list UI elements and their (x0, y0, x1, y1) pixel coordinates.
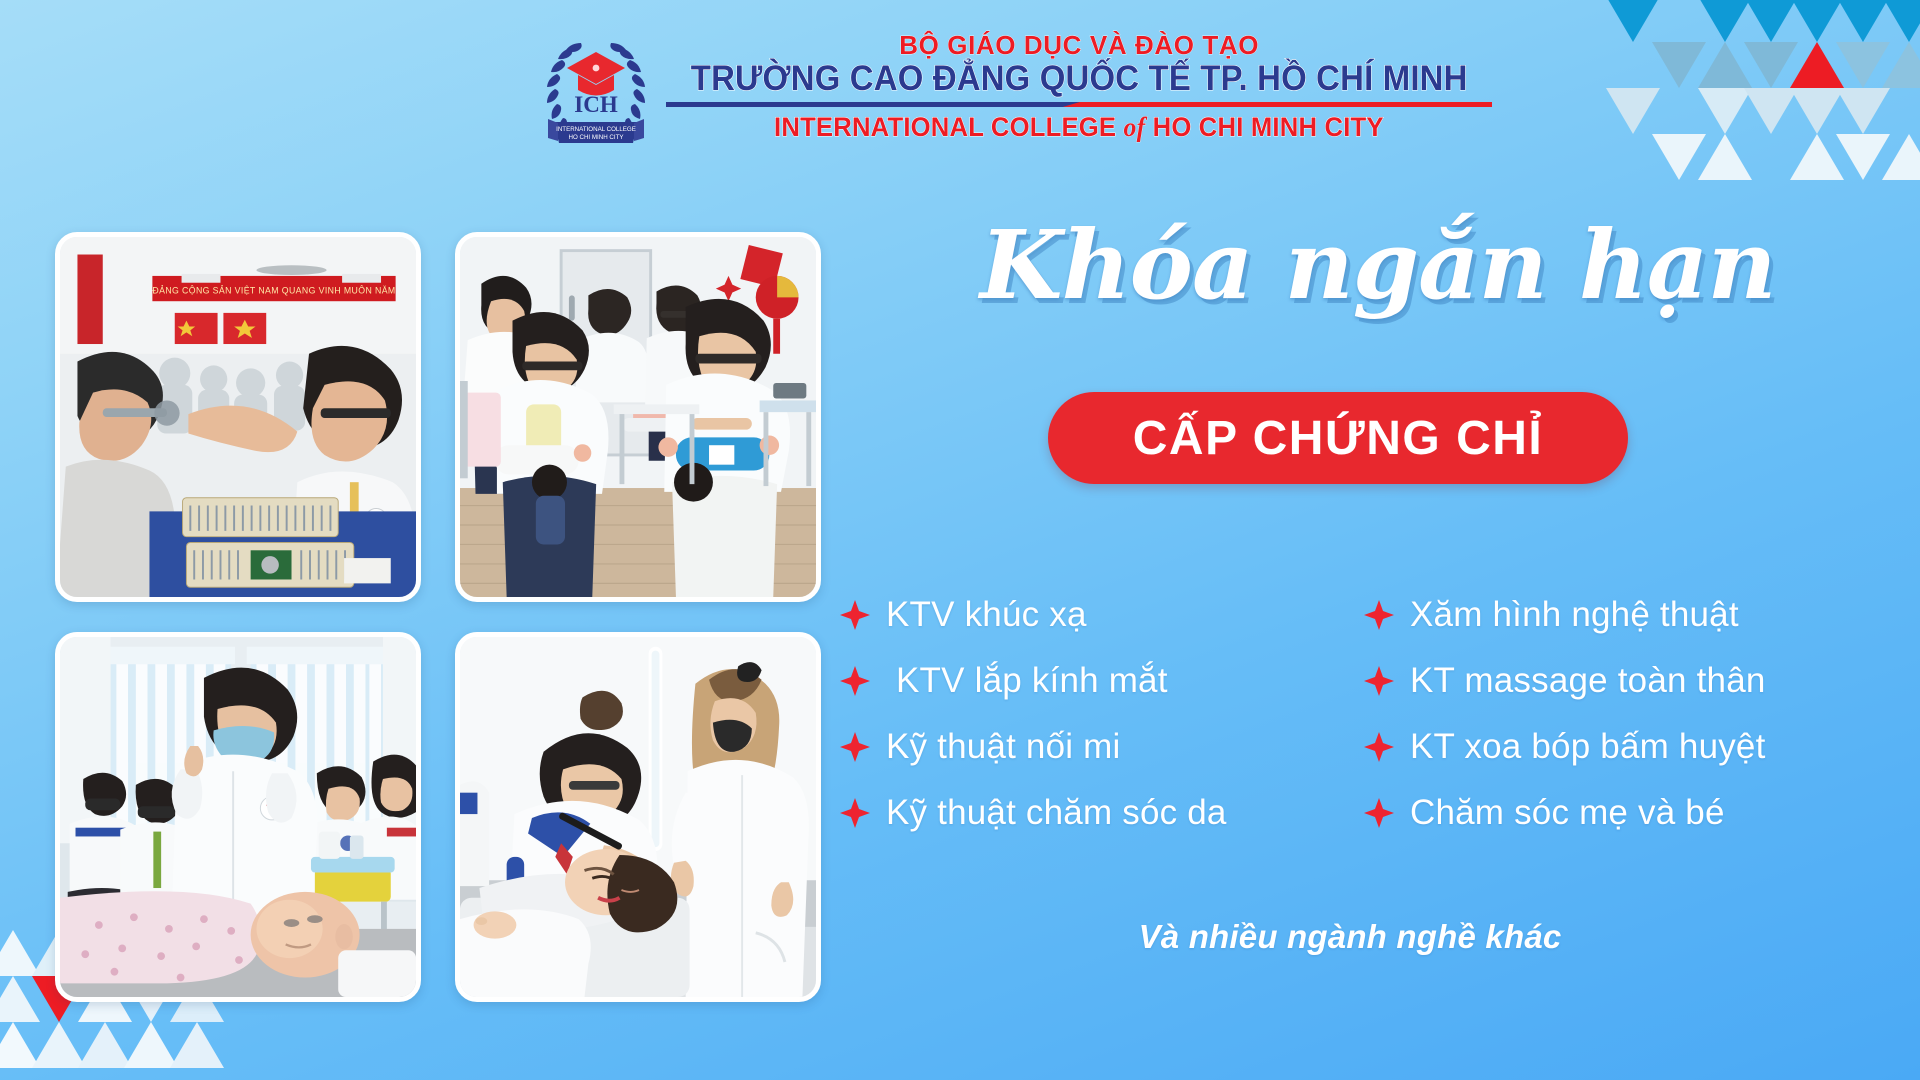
photo-nursing-practical (55, 632, 421, 1002)
decor-triangle (32, 1022, 86, 1068)
decor-triangle (1790, 88, 1844, 134)
photo-optometry-refraction-image: ĐẢNG CỘNG SẢN VIỆT NAM QUANG VINH MUÔN N… (60, 237, 416, 597)
svg-text:HO CHI MINH CITY: HO CHI MINH CITY (569, 134, 624, 141)
sparkle-icon (840, 600, 870, 630)
decor-triangle (1606, 0, 1660, 42)
brand-header: ICH INTERNATIONAL COLLEGE HO CHI MINH CI… (540, 26, 1492, 148)
ich-logo-mark: ICH INTERNATIONAL COLLEGE HO CHI MINH CI… (540, 26, 652, 148)
header-divider-left (666, 102, 1096, 107)
list-item[interactable]: Xăm hình nghệ thuật (1364, 595, 1860, 635)
svg-text:ĐẢNG CỘNG SẢN VIỆT NAM QUANG V: ĐẢNG CỘNG SẢN VIỆT NAM QUANG VINH MUÔN N… (152, 284, 395, 295)
photo-infant-care-training (455, 232, 821, 602)
course-label: KT massage toàn thân (1410, 661, 1766, 701)
list-item[interactable]: KT xoa bóp bấm huyệt (1364, 727, 1860, 767)
svg-text:INTERNATIONAL COLLEGE: INTERNATIONAL COLLEGE (556, 126, 636, 133)
page-title: Khóa ngắn hạn (980, 218, 1720, 313)
photo-beauty-lash-training (455, 632, 821, 1002)
sparkle-icon (840, 666, 870, 696)
decor-triangle (1790, 134, 1844, 180)
accent-triangle (1790, 42, 1844, 88)
course-label: Xăm hình nghệ thuật (1410, 595, 1739, 635)
svg-text:ICH: ICH (574, 92, 618, 117)
ministry-line: BỘ GIÁO DỤC VÀ ĐÀO TẠO (899, 31, 1259, 60)
photo-nursing-practical-image (60, 637, 416, 997)
sparkle-icon (840, 732, 870, 762)
list-item[interactable]: Chăm sóc mẹ và bé (1364, 793, 1860, 833)
certificate-badge-label: CẤP CHỨNG CHỈ (1133, 411, 1543, 466)
course-list-left-column: KTV khúc xạ KTV lắp kính mắt Kỹ thuật nố… (840, 595, 1336, 833)
decor-triangle (170, 1022, 224, 1068)
list-item[interactable]: Kỹ thuật chăm sóc da (840, 793, 1336, 833)
course-list-right-column: Xăm hình nghệ thuật KT massage toàn thân… (1364, 595, 1860, 833)
list-item[interactable]: Kỹ thuật nối mi (840, 727, 1336, 767)
school-name-en: INTERNATIONAL COLLEGE of HO CHI MINH CIT… (774, 113, 1384, 143)
list-item[interactable]: KTV khúc xạ (840, 595, 1336, 635)
course-list: KTV khúc xạ KTV lắp kính mắt Kỹ thuật nố… (840, 595, 1860, 833)
decor-triangle (78, 1022, 132, 1068)
decor-triangle (1882, 134, 1920, 180)
list-item[interactable]: KTV lắp kính mắt (840, 661, 1336, 701)
photo-beauty-lash-training-image (460, 637, 816, 997)
list-item[interactable]: KT massage toàn thân (1364, 661, 1860, 701)
decor-triangle (1882, 42, 1920, 88)
certificate-badge[interactable]: CẤP CHỨNG CHỈ (1048, 392, 1628, 484)
decor-triangle (1836, 134, 1890, 180)
course-label: Kỹ thuật nối mi (886, 727, 1121, 767)
decor-triangle (124, 1022, 178, 1068)
school-name-vi: TRƯỜNG CAO ĐẲNG QUỐC TẾ TP. HỒ CHÍ MINH (691, 60, 1468, 99)
decor-triangle (1652, 42, 1706, 88)
photo-infant-care-training-image (460, 237, 816, 597)
decor-triangle (1744, 42, 1798, 88)
ich-logo: ICH INTERNATIONAL COLLEGE HO CHI MINH CI… (540, 26, 652, 148)
triangle-pattern-top-right (1560, 0, 1920, 196)
decor-triangle (1882, 0, 1920, 42)
brand-header-text: BỘ GIÁO DỤC VÀ ĐÀO TẠO TRƯỜNG CAO ĐẲNG Q… (666, 31, 1492, 142)
decor-triangle (1698, 134, 1752, 180)
decor-triangle (1698, 88, 1752, 134)
decor-triangle (1744, 88, 1798, 134)
decor-triangle (1698, 42, 1752, 88)
sparkle-icon (840, 798, 870, 828)
course-label: KTV khúc xạ (886, 595, 1087, 635)
decor-triangle (1652, 134, 1706, 180)
header-divider (666, 102, 1492, 109)
decor-triangle (1744, 0, 1798, 42)
decor-triangle (0, 1022, 40, 1068)
sparkle-icon (1364, 798, 1394, 828)
decor-triangle (0, 976, 40, 1022)
graduation-cap-icon (567, 52, 625, 96)
course-label: KTV lắp kính mắt (886, 661, 1168, 701)
decor-triangle (1790, 0, 1844, 42)
photo-optometry-refraction: ĐẢNG CỘNG SẢN VIỆT NAM QUANG VINH MUÔN N… (55, 232, 421, 602)
banner-canvas: ICH INTERNATIONAL COLLEGE HO CHI MINH CI… (0, 0, 1920, 1080)
sparkle-icon (1364, 600, 1394, 630)
school-name-en-of: of (1124, 112, 1146, 142)
sparkle-icon (1364, 732, 1394, 762)
footnote-text: Và nhiều ngành nghề khác (980, 918, 1720, 956)
school-name-en-part1: INTERNATIONAL COLLEGE (774, 112, 1116, 142)
course-label: Kỹ thuật chăm sóc da (886, 793, 1227, 833)
school-name-en-part2: HO CHI MINH CITY (1153, 112, 1384, 142)
sparkle-icon (1364, 666, 1394, 696)
decor-triangle (1836, 0, 1890, 42)
course-label: KT xoa bóp bấm huyệt (1410, 727, 1766, 767)
decor-triangle (0, 930, 40, 976)
decor-triangle (1606, 88, 1660, 134)
decor-triangle (1836, 42, 1890, 88)
decor-triangle (1836, 88, 1890, 134)
course-label: Chăm sóc mẹ và bé (1410, 793, 1725, 833)
header-divider-right (1063, 102, 1493, 107)
decor-triangle (1698, 0, 1752, 42)
